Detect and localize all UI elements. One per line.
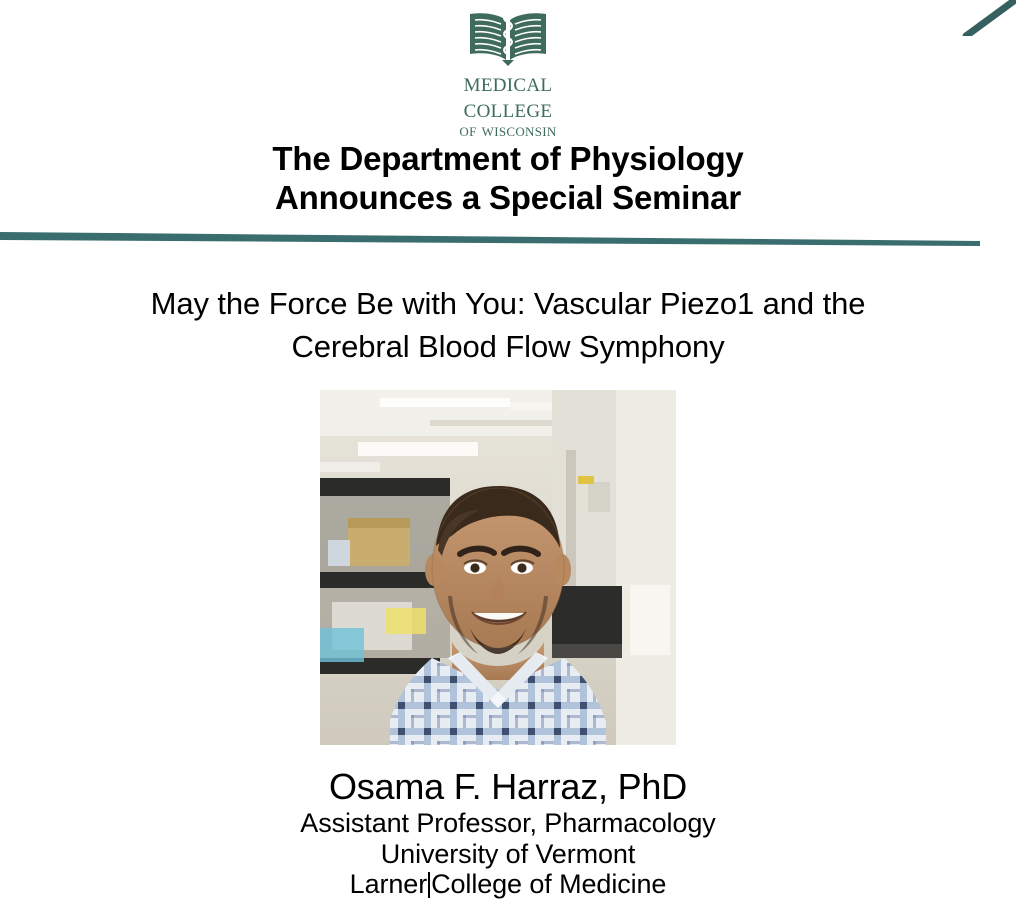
text-cursor-caret xyxy=(428,872,430,898)
header-divider xyxy=(0,228,1016,250)
logo-wordmark-line-2: College xyxy=(459,96,556,122)
speaker-school-part-1: Larner xyxy=(350,869,427,899)
speaker-institution: University of Vermont xyxy=(0,839,1016,870)
announcement-heading: The Department of Physiology Announces a… xyxy=(0,140,1016,218)
institution-logo: Medical College of Wisconsin xyxy=(0,8,1016,140)
open-book-caduceus-icon xyxy=(462,8,554,68)
speaker-title: Assistant Professor, Pharmacology xyxy=(0,808,1016,839)
announcement-line-2: Announces a Special Seminar xyxy=(0,179,1016,218)
speaker-details: Osama F. Harraz, PhD Assistant Professor… xyxy=(0,766,1016,900)
announcement-line-1: The Department of Physiology xyxy=(0,140,1016,179)
speaker-portrait xyxy=(320,390,676,745)
seminar-title-line-1: May the Force Be with You: Vascular Piez… xyxy=(0,283,1016,326)
speaker-name: Osama F. Harraz, PhD xyxy=(0,766,1016,808)
seminar-title-line-2: Cerebral Blood Flow Symphony xyxy=(0,326,1016,369)
logo-wordmark: Medical College of Wisconsin xyxy=(459,70,556,140)
speaker-school-part-2: College of Medicine xyxy=(431,869,666,899)
logo-wordmark-line-3: of Wisconsin xyxy=(459,122,556,140)
seminar-title: May the Force Be with You: Vascular Piez… xyxy=(0,283,1016,369)
speaker-school: LarnerCollege of Medicine xyxy=(0,869,1016,900)
